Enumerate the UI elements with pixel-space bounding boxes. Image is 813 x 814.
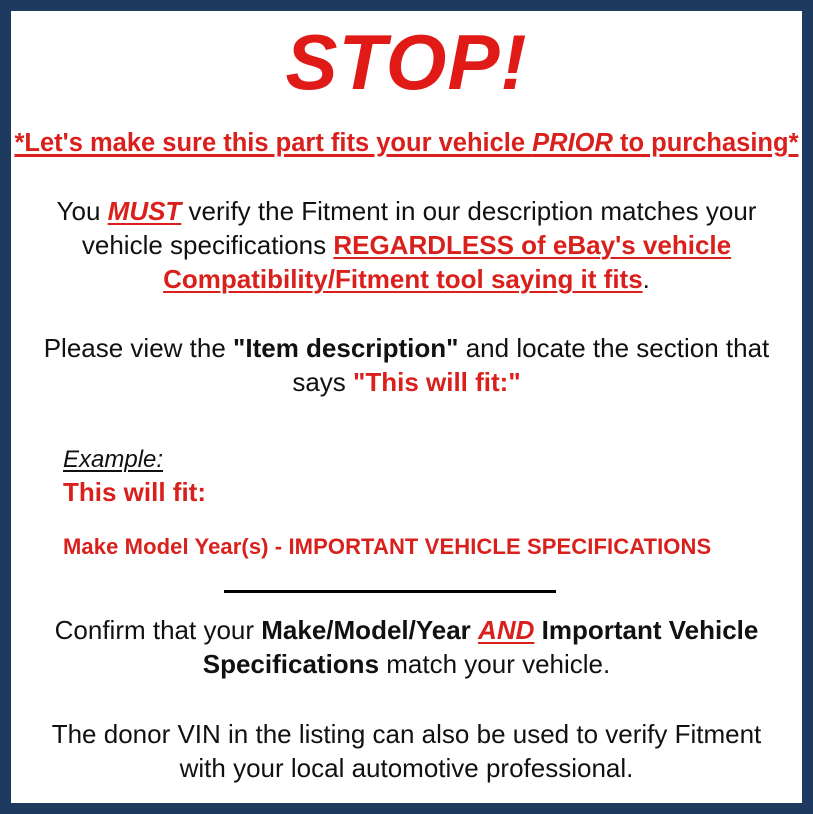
example-fit-heading: This will fit: — [63, 477, 802, 508]
view-text-1: Please view the — [44, 333, 233, 363]
tagline-emphasis: PRIOR — [532, 129, 613, 157]
tagline-before: *Let's make sure this part fits your veh… — [14, 129, 532, 157]
must-emphasis: MUST — [108, 196, 182, 226]
and-emphasis: AND — [478, 615, 534, 645]
item-description-label: "Item description" — [233, 333, 458, 363]
this-will-fit-label: "This will fit:" — [353, 367, 521, 397]
tagline: *Let's make sure this part fits your veh… — [11, 129, 802, 157]
make-model-year-label: Make/Model/Year — [261, 615, 471, 645]
example-spec-line: Make Model Year(s) - IMPORTANT VEHICLE S… — [63, 534, 802, 560]
confirm-text-2: match your vehicle. — [379, 649, 610, 679]
must-text-3: . — [643, 264, 650, 294]
must-verify-paragraph: You MUST verify the Fitment in our descr… — [11, 195, 802, 296]
confirm-text-1: Confirm that your — [55, 615, 262, 645]
fitment-notice-card: STOP! *Let's make sure this part fits yo… — [0, 0, 813, 814]
confirm-space-2 — [534, 615, 541, 645]
page-title: STOP! — [11, 23, 802, 101]
item-description-paragraph: Please view the "Item description" and l… — [11, 332, 802, 400]
notice-body: STOP! *Let's make sure this part fits yo… — [11, 23, 802, 814]
tagline-after: to purchasing* — [613, 129, 799, 157]
confirm-paragraph: Confirm that your Make/Model/Year AND Im… — [11, 614, 802, 682]
example-label: Example: — [63, 446, 802, 474]
confirm-space-1 — [471, 615, 478, 645]
donor-vin-paragraph: The donor VIN in the listing can also be… — [11, 718, 802, 786]
section-divider — [224, 590, 556, 593]
must-text-1: You — [57, 196, 108, 226]
example-block: Example: This will fit: Make Model Year(… — [11, 446, 802, 560]
divider-wrap — [11, 584, 802, 598]
